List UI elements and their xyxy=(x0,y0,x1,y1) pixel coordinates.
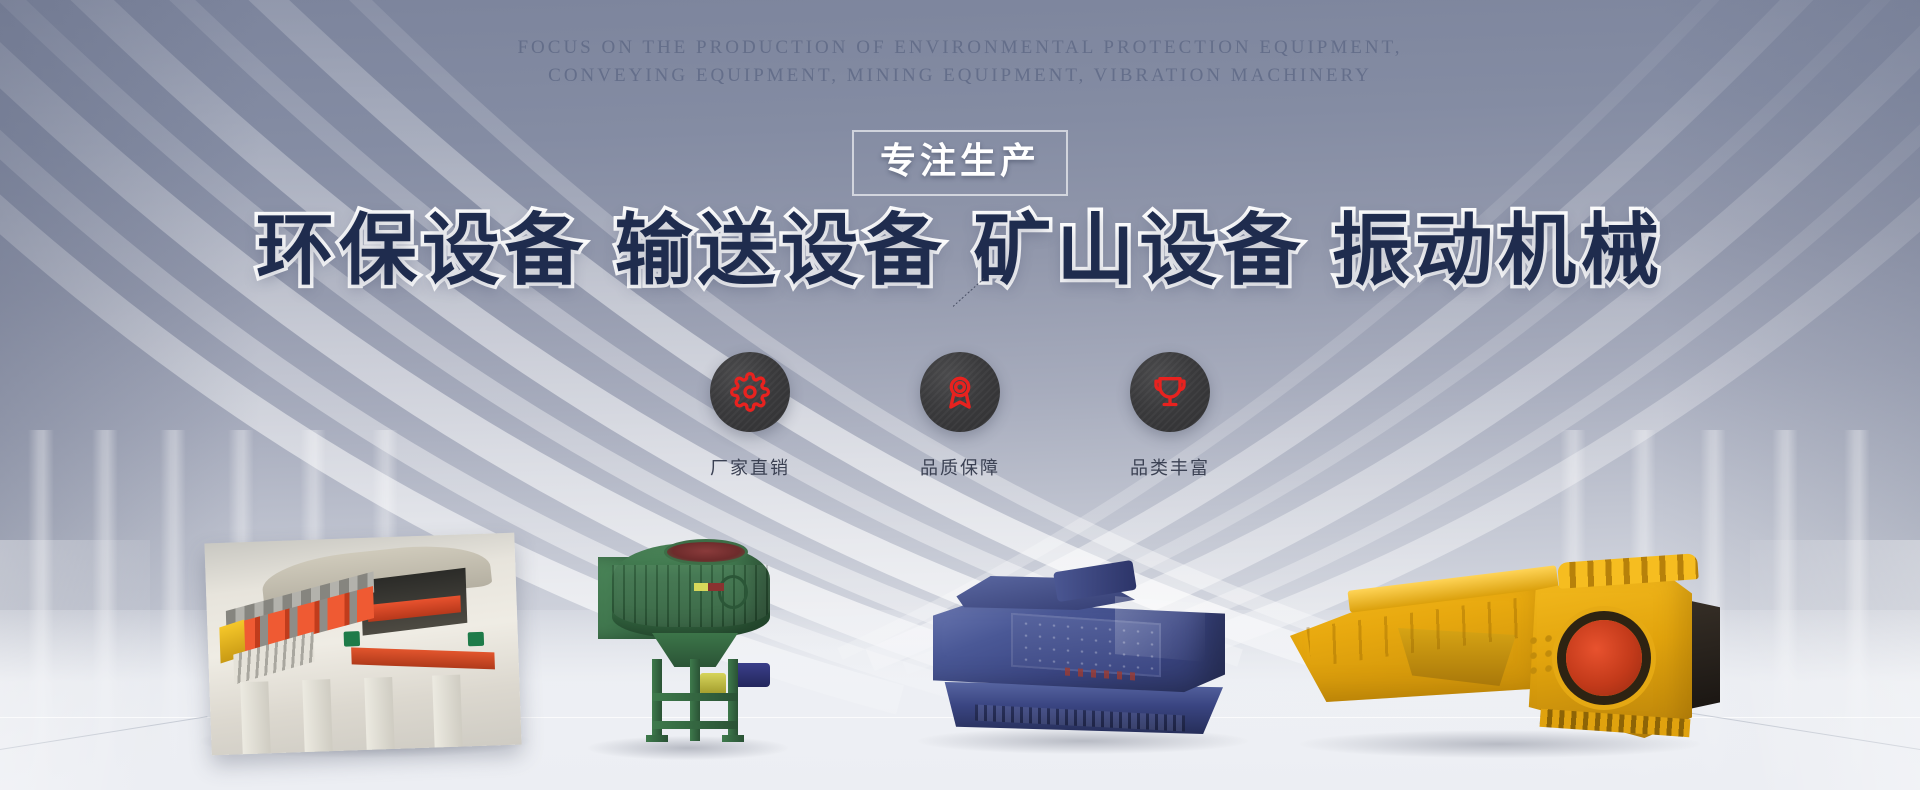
product-image-row xyxy=(0,0,1920,790)
product-image-blue-vibrating-screen xyxy=(915,560,1245,750)
product-image-green-disc-feeder xyxy=(590,535,790,750)
product-image-yellow-jaw-crusher xyxy=(1290,548,1720,754)
hero-banner: FOCUS ON THE PRODUCTION OF ENVIRONMENTAL… xyxy=(0,0,1920,790)
product-image-mining-screen-platform xyxy=(208,538,518,750)
